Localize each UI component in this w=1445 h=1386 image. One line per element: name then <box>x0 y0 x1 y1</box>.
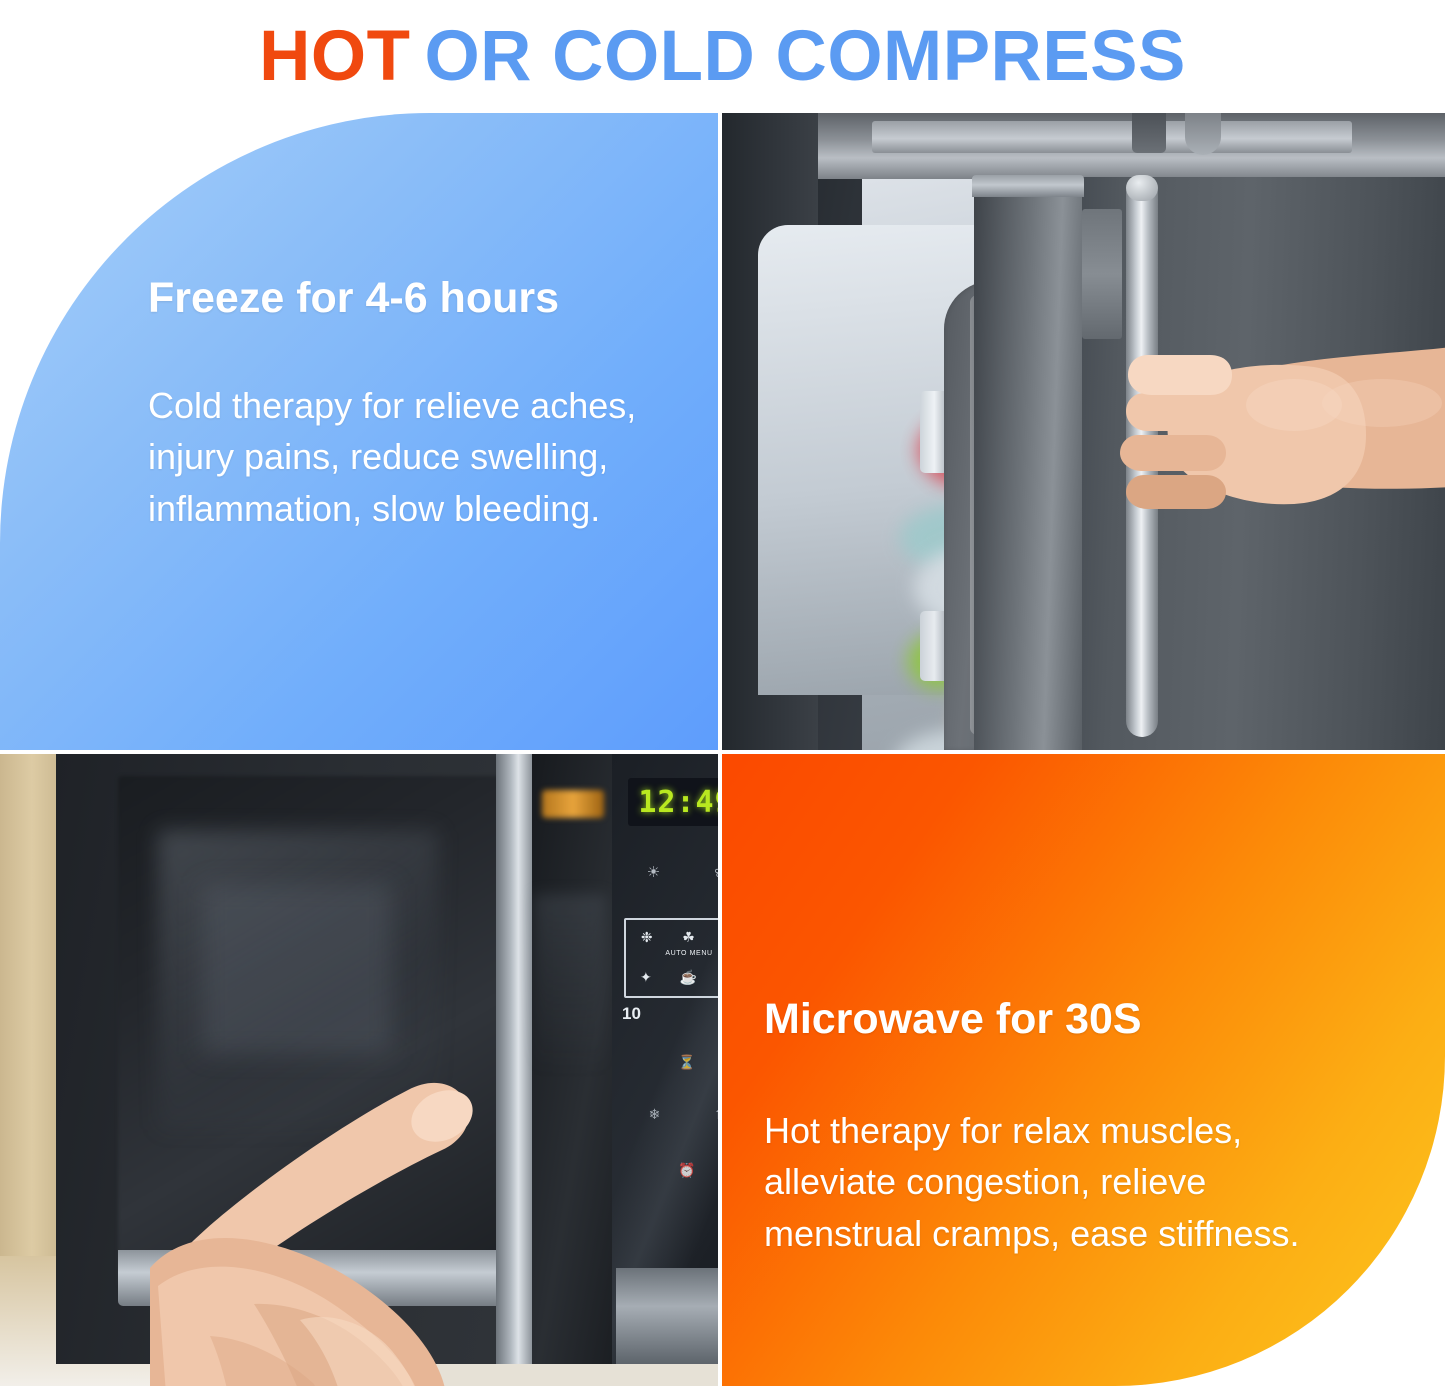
fridge-top-lip <box>872 121 1352 153</box>
hand-pressing-button-icon <box>150 1054 620 1386</box>
microwave-stop-icon[interactable]: ⏰ <box>678 1162 695 1179</box>
microwave-cook-timer-button[interactable]: ☀ <box>620 850 687 894</box>
microwave-clock-display: 12:49 <box>628 778 718 826</box>
auto-menu-beverage-icon[interactable]: ☕ <box>680 969 697 986</box>
fridge-door-top-cap <box>972 175 1084 197</box>
microwave-interior-light <box>542 790 604 818</box>
refrigerator-photo <box>722 113 1445 750</box>
microwave-function-row-3[interactable]: ⏰ <box>622 1162 718 1179</box>
microwave-clock-icon[interactable]: ⏳ <box>678 1054 695 1071</box>
microwave-function-row-1[interactable]: ⏳ <box>622 1054 718 1071</box>
horizontal-divider <box>0 750 1445 754</box>
hand-gripping-handle-icon <box>1082 331 1445 541</box>
hot-therapy-panel: Microwave for 30S Hot therapy for relax … <box>722 754 1445 1386</box>
title-word-rest: OR COLD COMPRESS <box>410 17 1185 96</box>
microwave-power-ten-left[interactable]: 10 <box>622 1004 641 1024</box>
hot-panel-body: Hot therapy for relax muscles, alleviate… <box>764 1105 1374 1258</box>
page-title: HOTOR COLD COMPRESS <box>0 0 1445 113</box>
auto-menu-popcorn-icon[interactable]: ❉ <box>641 929 653 946</box>
cold-panel-body: Cold therapy for relieve aches, injury p… <box>148 380 678 533</box>
cold-panel-heading: Freeze for 4-6 hours <box>148 275 688 322</box>
microwave-cavity-highlight <box>534 894 606 1074</box>
microwave-auto-menu-group[interactable]: ❉ ☘ ☉ AUTO MENU ✦ ☕ ☀ <box>624 918 718 998</box>
fridge-door-shelf <box>920 611 946 681</box>
title-line: HOTOR COLD COMPRESS <box>259 21 1186 92</box>
microwave-preset-row-top[interactable]: ☀ ❀ <box>620 850 718 894</box>
cold-panel-content: Freeze for 4-6 hours Cold therapy for re… <box>148 275 688 534</box>
fridge-top-fixture <box>1185 113 1221 155</box>
microwave-power-level-row[interactable]: 10 10 <box>622 1004 718 1024</box>
fridge-door-shelf <box>920 391 946 473</box>
fridge-door-badge <box>1082 209 1122 339</box>
microwave-function-row-2[interactable]: ❄ ⬆ <box>622 1106 718 1123</box>
hot-panel-heading: Microwave for 30S <box>764 996 1384 1043</box>
microwave-auto-menu-label: AUTO MENU <box>626 950 718 957</box>
hot-panel-content: Microwave for 30S Hot therapy for relax … <box>764 996 1384 1259</box>
fridge-door-edge <box>974 177 1082 750</box>
auto-menu-potato-icon[interactable]: ☘ <box>682 929 695 946</box>
microwave-cook-weight-button[interactable]: ❀ <box>687 850 718 894</box>
microwave-defrost-icon[interactable]: ❄ <box>649 1106 661 1123</box>
microwave-photo: 12:49 ☀ ❀ ❉ ☘ ☉ AUTO MENU ✦ ☕ <box>0 754 718 1386</box>
auto-menu-vegetable-icon[interactable]: ✦ <box>640 969 652 986</box>
microwave-glass-reflection <box>202 884 392 1054</box>
quadrant-grid: Freeze for 4-6 hours Cold therapy for re… <box>0 113 1445 1386</box>
title-word-hot: HOT <box>259 17 410 96</box>
microwave-clock-time: 12:49 <box>638 785 718 820</box>
microwave-base-bar <box>616 1268 718 1364</box>
microwave-auto-menu-row-2[interactable]: ✦ ☕ ☀ <box>626 960 718 994</box>
fridge-top-fixture <box>1132 113 1166 153</box>
fridge-handle-cap <box>1126 175 1158 201</box>
microwave-auto-menu-row-1[interactable]: ❉ ☘ ☉ <box>626 920 718 954</box>
cold-therapy-panel: Freeze for 4-6 hours Cold therapy for re… <box>0 113 718 750</box>
